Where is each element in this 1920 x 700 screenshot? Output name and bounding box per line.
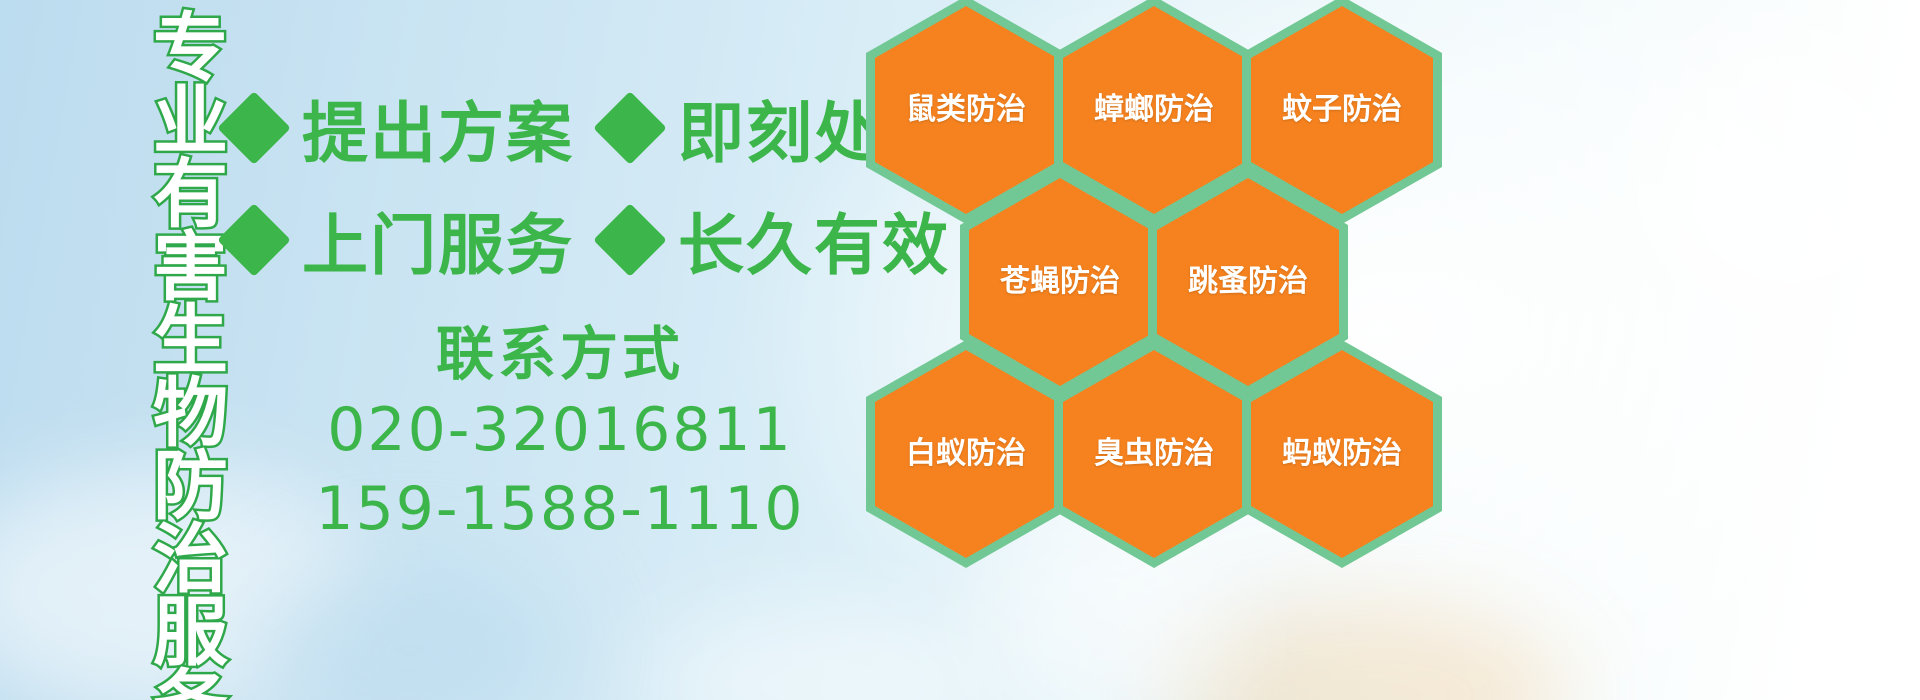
service-label: 臭虫防治	[1094, 439, 1214, 469]
contact-block: 联系方式 020-32016811 159-1588-1110	[300, 318, 820, 549]
vertical-headline: 专业有害生物防治服务	[104, 8, 222, 608]
hex-inner: 臭虫防治	[1063, 350, 1245, 558]
diamond-bullet-icon	[593, 203, 667, 277]
hex-inner: 白蚁防治	[875, 350, 1057, 558]
service-label: 苍蝇防治	[1000, 267, 1120, 297]
background-haze-blob	[1640, 30, 1920, 330]
service-label: 蚊子防治	[1282, 95, 1402, 125]
hex-inner: 蚂蚁防治	[1251, 350, 1433, 558]
hex-inner: 蟑螂防治	[1063, 6, 1245, 214]
service-label: 蚂蚁防治	[1282, 439, 1402, 469]
service-label: 蟑螂防治	[1094, 95, 1214, 125]
feature-label-onsite-service: 上门服务	[302, 192, 574, 288]
feature-label-propose-plan: 提出方案	[302, 80, 574, 176]
diamond-bullet-icon	[593, 91, 667, 165]
service-honeycomb: 鼠类防治 蟑螂防治 蚊子防治 苍蝇防治 跳蚤防治 白蚁防治	[852, 0, 1472, 700]
hex-inner: 鼠类防治	[875, 6, 1057, 214]
hex-inner: 苍蝇防治	[969, 178, 1151, 386]
contact-heading: 联系方式	[300, 318, 820, 391]
diamond-bullet-icon	[217, 91, 291, 165]
pest-control-banner: 专业有害生物防治服务 提出方案 即刻处理 上门服务 长久有效 联系方式 020-…	[0, 0, 1920, 700]
service-label: 鼠类防治	[906, 95, 1026, 125]
phone-number-landline[interactable]: 020-32016811	[300, 391, 820, 470]
background-haze-blob	[250, 560, 570, 700]
hex-inner: 蚊子防治	[1251, 6, 1433, 214]
phone-number-mobile[interactable]: 159-1588-1110	[300, 470, 820, 549]
service-label: 跳蚤防治	[1188, 267, 1308, 297]
service-label: 白蚁防治	[906, 439, 1026, 469]
hex-inner: 跳蚤防治	[1157, 178, 1339, 386]
diamond-bullet-icon	[217, 203, 291, 277]
